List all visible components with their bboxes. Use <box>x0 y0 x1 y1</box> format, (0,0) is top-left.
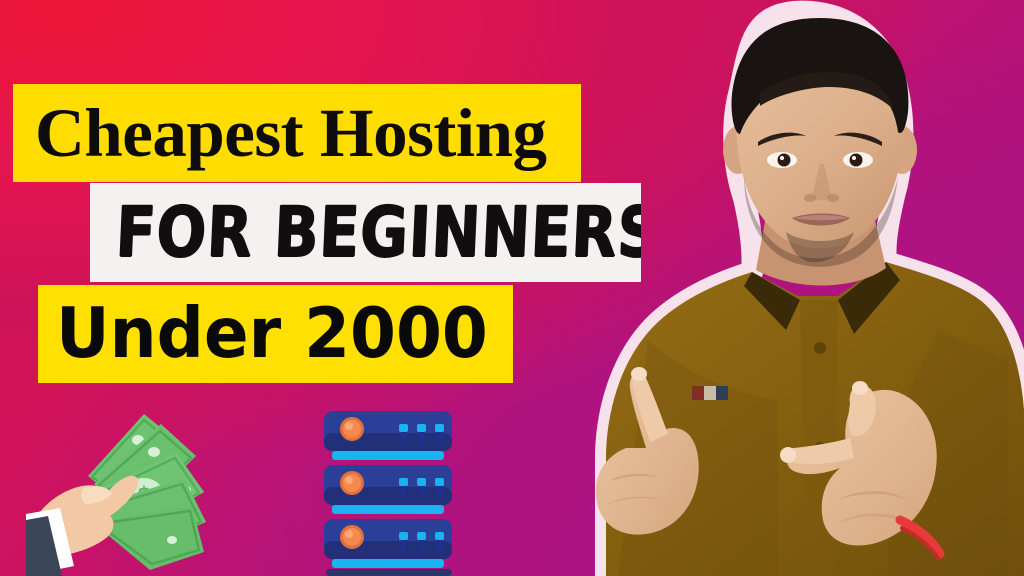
subheadline-text: FOR BEGINNERS <box>114 198 641 268</box>
price-text: Under 2000 <box>56 299 488 368</box>
hand-holding-cash-icon: $ <box>26 404 262 576</box>
subheadline-band: FOR BEGINNERS <box>90 183 641 282</box>
server-unit-1 <box>324 411 452 460</box>
headline-band: Cheapest Hosting <box>13 84 581 182</box>
face <box>731 18 908 267</box>
server-rack-icon <box>322 411 464 576</box>
server-unit-3 <box>324 519 452 568</box>
price-band: Under 2000 <box>38 285 513 383</box>
server-unit-2 <box>324 465 452 514</box>
presenter-photo <box>588 0 1024 576</box>
thumbnail-canvas: Cheapest Hosting FOR BEGINNERS Under 200… <box>0 0 1024 576</box>
headline-text: Cheapest Hosting <box>35 99 546 168</box>
